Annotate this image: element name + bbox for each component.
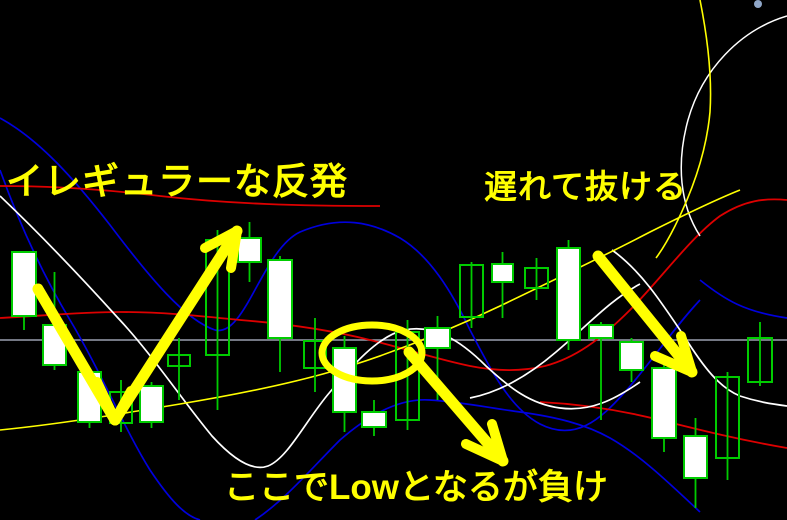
candle-body[interactable]: [238, 238, 261, 262]
candle-body[interactable]: [140, 386, 163, 422]
candle-body[interactable]: [684, 436, 707, 478]
candle-body[interactable]: [12, 252, 36, 316]
candle-body[interactable]: [362, 412, 386, 427]
annotation-late-breakout: 遅れて抜ける: [484, 170, 687, 203]
candle-body[interactable]: [492, 264, 513, 282]
chart-background: [0, 0, 787, 520]
candlestick-chart-screenshot: イレギュラーな反発 遅れて抜ける ここでLowとなるが負け: [0, 0, 787, 520]
annotation-low-loss: ここでLowとなるが負け: [224, 470, 608, 505]
candle-body[interactable]: [620, 342, 643, 370]
candle-body[interactable]: [268, 260, 292, 338]
cursor-dot-icon: [754, 0, 762, 8]
chart-canvas[interactable]: [0, 0, 787, 520]
candle-body[interactable]: [652, 368, 676, 438]
candle-body[interactable]: [425, 328, 450, 348]
candle-body[interactable]: [557, 248, 580, 340]
annotation-irregular-rebound: イレギュラーな反発: [6, 163, 348, 200]
candle-body[interactable]: [589, 325, 613, 338]
